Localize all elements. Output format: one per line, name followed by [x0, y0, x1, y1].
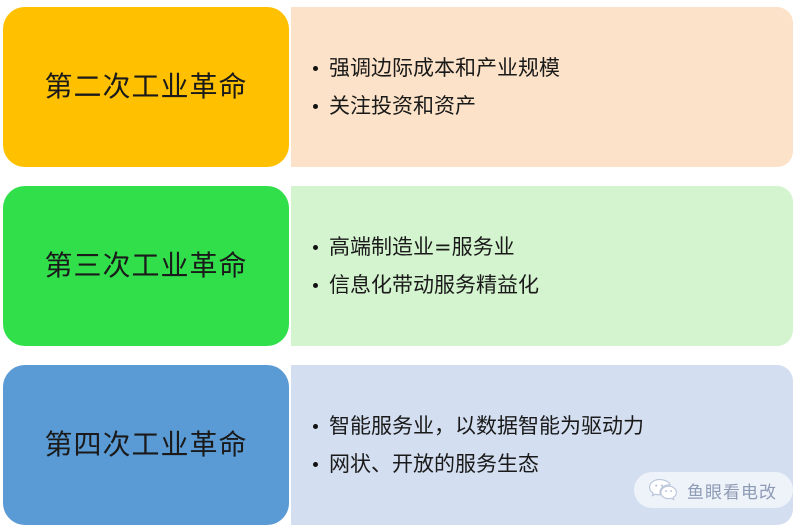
diagram-row-second-industrial-revolution: 第二次工业革命 强调边际成本和产业规模 关注投资和资产 — [0, 7, 800, 167]
content-panel-second-industrial-revolution: 强调边际成本和产业规模 关注投资和资产 — [291, 7, 793, 167]
wechat-icon — [648, 478, 678, 502]
label-text: 第三次工业革命 — [44, 251, 247, 282]
label-card-fourth-industrial-revolution[interactable]: 第四次工业革命 — [3, 365, 289, 525]
bullet-item: 高端制造业=服务业 — [313, 228, 793, 266]
bullet-list: 高端制造业=服务业 信息化带动服务精益化 — [313, 228, 793, 304]
label-text: 第二次工业革命 — [44, 72, 247, 103]
diagram-row-third-industrial-revolution: 第三次工业革命 高端制造业=服务业 信息化带动服务精益化 — [0, 186, 800, 346]
bullet-item: 智能服务业，以数据智能为驱动力 — [313, 407, 793, 445]
diagram-canvas: 第二次工业革命 强调边际成本和产业规模 关注投资和资产 第三次工业革命 高端制造… — [0, 0, 800, 532]
label-text: 第四次工业革命 — [44, 430, 247, 461]
wechat-watermark: 鱼眼看电改 — [634, 472, 793, 508]
content-panel-third-industrial-revolution: 高端制造业=服务业 信息化带动服务精益化 — [291, 186, 793, 346]
wechat-account-name: 鱼眼看电改 — [687, 478, 777, 503]
bullet-list: 强调边际成本和产业规模 关注投资和资产 — [313, 49, 793, 125]
bullet-item: 关注投资和资产 — [313, 87, 793, 125]
label-card-third-industrial-revolution[interactable]: 第三次工业革命 — [3, 186, 289, 346]
label-card-second-industrial-revolution[interactable]: 第二次工业革命 — [3, 7, 289, 167]
bullet-item: 强调边际成本和产业规模 — [313, 49, 793, 87]
bullet-item: 信息化带动服务精益化 — [313, 266, 793, 304]
